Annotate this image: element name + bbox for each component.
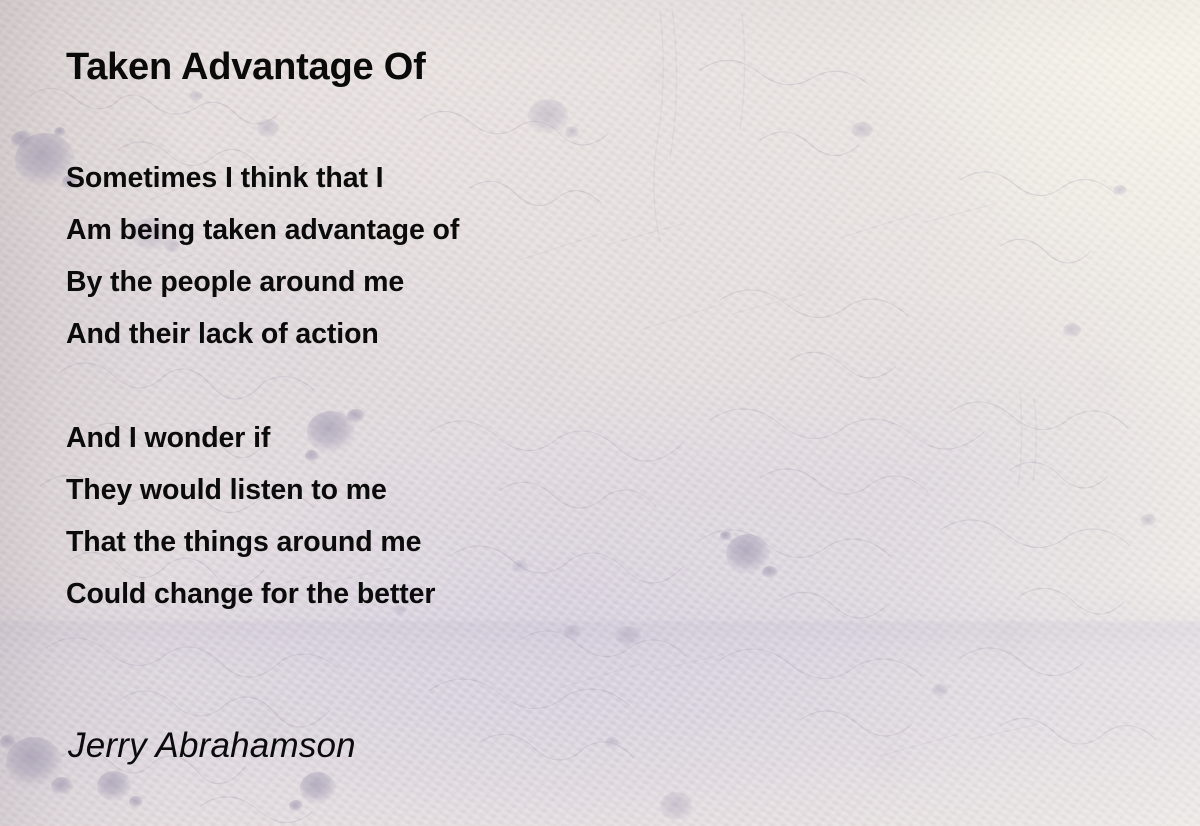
poem-line: They would listen to me xyxy=(66,464,966,516)
poem-stanza-break xyxy=(66,360,966,412)
poem-line: By the people around me xyxy=(66,256,966,308)
poem-body: Sometimes I think that I Am being taken … xyxy=(66,152,966,620)
poem-line: And their lack of action xyxy=(66,308,966,360)
poem-line: That the things around me xyxy=(66,516,966,568)
poem-line: Could change for the better xyxy=(66,568,966,620)
poem-author-signature: Jerry Abrahamson xyxy=(68,726,356,766)
poem-image-card: Taken Advantage Of Sometimes I think tha… xyxy=(0,0,1200,826)
poem-text-container: Taken Advantage Of Sometimes I think tha… xyxy=(0,0,1200,826)
poem-line: Am being taken advantage of xyxy=(66,204,966,256)
poem-line: And I wonder if xyxy=(66,412,966,464)
poem-title: Taken Advantage Of xyxy=(66,46,426,89)
poem-line: Sometimes I think that I xyxy=(66,152,966,204)
